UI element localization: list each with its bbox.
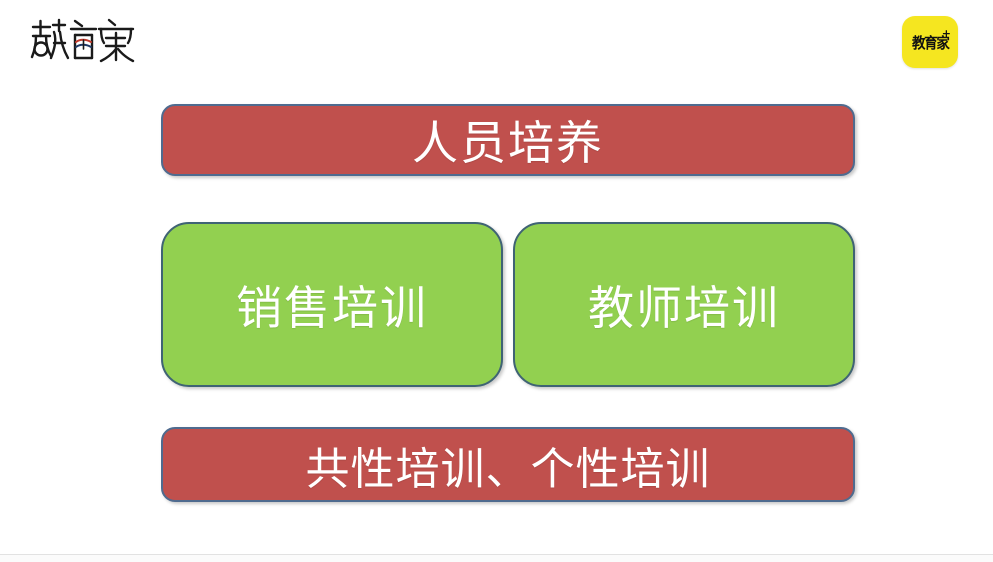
app-badge-plus-icon: +: [942, 28, 951, 39]
diagram-node-label: 共性培训、个性培训: [306, 433, 711, 497]
diagram-node-label: 人员培养: [412, 107, 604, 173]
diagram-node-personnel-training[interactable]: 人员培养: [161, 104, 855, 176]
jiaoyujia-logo: [30, 16, 142, 64]
diagram-node-label: 教师培训: [588, 272, 780, 338]
footer-strip: [0, 555, 993, 562]
diagram-node-label: 销售培训: [236, 272, 428, 338]
diagram-node-sales-training[interactable]: 销售培训: [161, 222, 503, 387]
logo-mark-icon: [30, 16, 142, 64]
diagram-node-teacher-training[interactable]: 教师培训: [513, 222, 855, 387]
diagram-node-common-and-individual-training[interactable]: 共性培训、个性培训: [161, 427, 855, 502]
slide-canvas: 教育家 + 人员培养 销售培训 教师培训 共性培训、个性培训: [0, 0, 993, 562]
app-badge-inner: 教育家: [902, 16, 958, 68]
jiaoyujia-app-badge[interactable]: 教育家 +: [902, 16, 958, 68]
